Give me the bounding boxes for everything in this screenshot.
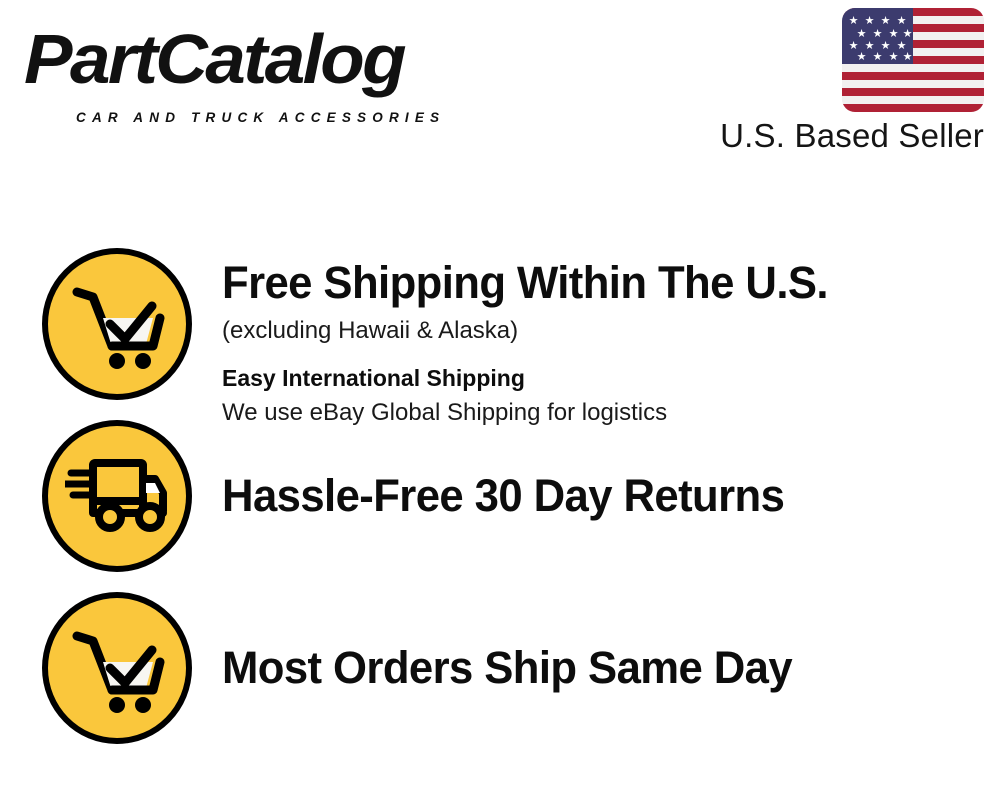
flag-canton: ★ ★ ★ ★ ★ ★ ★ ★ ★ ★ ★ ★ ★ ★ ★ ★	[842, 8, 913, 64]
flag-stripe	[842, 72, 984, 80]
flag-star: ★	[896, 16, 907, 27]
logo-wordmark: PartCatalog	[24, 22, 404, 96]
feature-row: Most Orders Ship Same Day	[0, 592, 1000, 744]
feature-row: Free Shipping Within The U.S. (excluding…	[0, 248, 1000, 400]
flag-star: ★	[880, 16, 891, 27]
feature-title: Free Shipping Within The U.S.	[222, 256, 977, 310]
us-based-seller-label: U.S. Based Seller	[720, 116, 984, 156]
feature-title: Most Orders Ship Same Day	[222, 641, 977, 695]
flag-star: ★	[872, 29, 883, 40]
feature-title: Hassle-Free 30 Day Returns	[222, 469, 977, 523]
flag-stripe	[842, 80, 984, 88]
flag-stripe	[842, 88, 984, 96]
flag-star: ★	[848, 16, 859, 27]
seller-banner: PartCatalog CAR AND TRUCK ACCESSORIES ★	[0, 0, 1000, 800]
flag-star: ★	[872, 52, 883, 63]
us-flag-icon: ★ ★ ★ ★ ★ ★ ★ ★ ★ ★ ★ ★ ★ ★ ★ ★	[842, 8, 984, 112]
feature-row: Hassle-Free 30 Day Returns	[0, 420, 1000, 572]
feature-text-block: Hassle-Free 30 Day Returns	[222, 469, 1000, 523]
feature-note: (excluding Hawaii & Alaska)	[222, 314, 1000, 348]
banner-header: PartCatalog CAR AND TRUCK ACCESSORIES ★	[0, 0, 1000, 170]
flag-stripe	[842, 104, 984, 112]
flag-star: ★	[888, 29, 899, 40]
delivery-truck-icon	[42, 420, 192, 572]
flag-star: ★	[856, 52, 867, 63]
us-flag-badge: ★ ★ ★ ★ ★ ★ ★ ★ ★ ★ ★ ★ ★ ★ ★ ★	[842, 8, 984, 112]
feature-text-block: Free Shipping Within The U.S. (excluding…	[222, 248, 1000, 429]
flag-star: ★	[902, 29, 913, 40]
logo-tagline: CAR AND TRUCK ACCESSORIES	[76, 110, 445, 125]
shopping-cart-check-icon	[42, 592, 192, 744]
feature-text-block: Most Orders Ship Same Day	[222, 641, 1000, 695]
shopping-cart-check-icon	[42, 248, 192, 400]
flag-star: ★	[864, 16, 875, 27]
flag-star: ★	[902, 52, 913, 63]
flag-star: ★	[856, 29, 867, 40]
feature-subheading: Easy International Shipping	[222, 362, 1000, 394]
flag-stripe	[842, 64, 984, 72]
flag-star: ★	[888, 52, 899, 63]
flag-stripe	[842, 96, 984, 104]
partcatalog-logo: PartCatalog CAR AND TRUCK ACCESSORIES	[24, 22, 494, 117]
